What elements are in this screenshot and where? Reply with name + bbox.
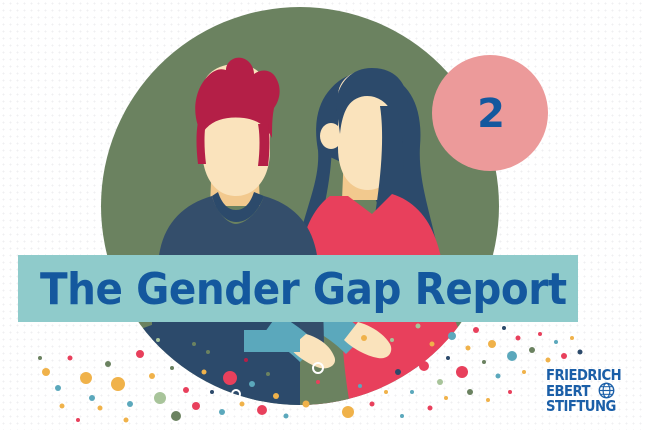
logo-line-stiftung: STIFTUNG (546, 399, 627, 415)
globe-icon (598, 382, 615, 399)
page-title: The Gender Gap Report (40, 258, 528, 320)
held-object (244, 330, 300, 352)
cover-page: The Gender Gap Report 2 FRIEDRICH EBERT … (0, 0, 645, 430)
issue-number-badge: 2 (469, 88, 513, 140)
fes-logo: FRIEDRICH EBERT STIFTUNG (546, 368, 638, 418)
male-hair-sideburn-right (258, 124, 270, 166)
female-ear (320, 123, 342, 149)
